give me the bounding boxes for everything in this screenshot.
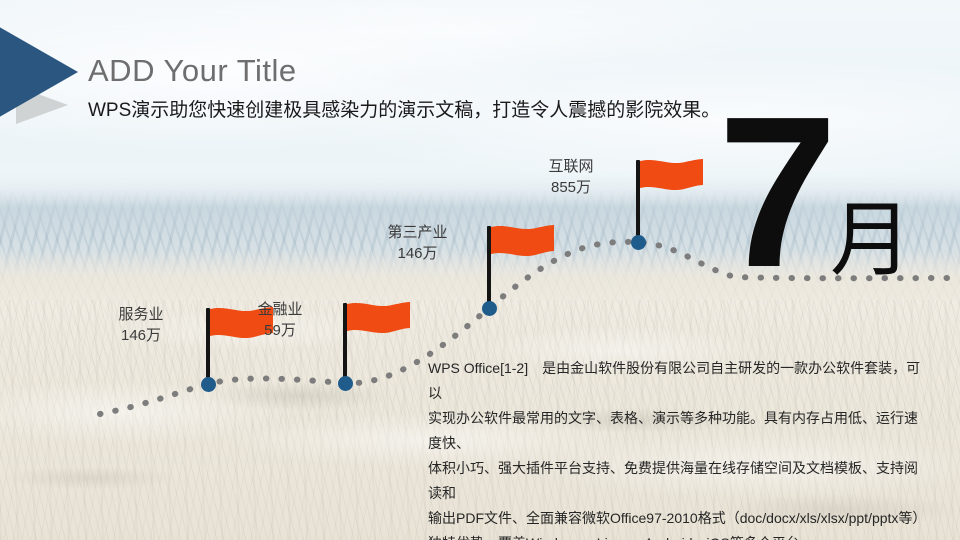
body-line-3: 体积小巧、强大插件平台支持、免费提供海量在线存储空间及文档模板、支持阅读和: [428, 456, 930, 506]
path-node-dot-3: [482, 301, 497, 316]
milestone-value-3: 146万: [365, 243, 470, 264]
milestone-value-2: 59万: [235, 320, 325, 341]
milestone-name-3: 第三产业: [365, 222, 470, 243]
milestone-label-2: 金融业 59万: [235, 299, 325, 341]
body-line-5: 独特优势。覆盖Windows、Linux、Android、iOS等多个平台。: [428, 531, 930, 540]
waving-flag-icon-3: [491, 225, 555, 263]
milestone-label-3: 第三产业 146万: [365, 222, 470, 264]
path-node-dot-2: [338, 376, 353, 391]
milestone-label-4: 互联网 855万: [526, 156, 616, 198]
body-line-2: 实现办公软件最常用的文字、表格、演示等多种功能。具有内存占用低、运行速度快、: [428, 406, 930, 456]
slide-canvas: ADD Your Title WPS演示助您快速创建极具感染力的演示文稿，打造令…: [0, 0, 960, 540]
body-line-1: WPS Office[1-2] 是由金山软件股份有限公司自主研发的一款办公软件套…: [428, 356, 930, 406]
path-node-dot-1: [201, 377, 216, 392]
milestone-name-4: 互联网: [526, 156, 616, 177]
milestone-name-1: 服务业: [96, 304, 186, 325]
waving-flag-icon-2: [347, 302, 411, 340]
milestone-label-1: 服务业 146万: [96, 304, 186, 346]
waving-flag-icon-4: [640, 159, 704, 197]
path-node-dot-4: [631, 235, 646, 250]
body-line-4: 输出PDF文件、全面兼容微软Office97-2010格式（doc/docx/x…: [428, 506, 930, 531]
milestone-value-1: 146万: [96, 325, 186, 346]
body-paragraph: WPS Office[1-2] 是由金山软件股份有限公司自主研发的一款办公软件套…: [428, 356, 930, 540]
milestone-name-2: 金融业: [235, 299, 325, 320]
milestone-value-4: 855万: [526, 177, 616, 198]
